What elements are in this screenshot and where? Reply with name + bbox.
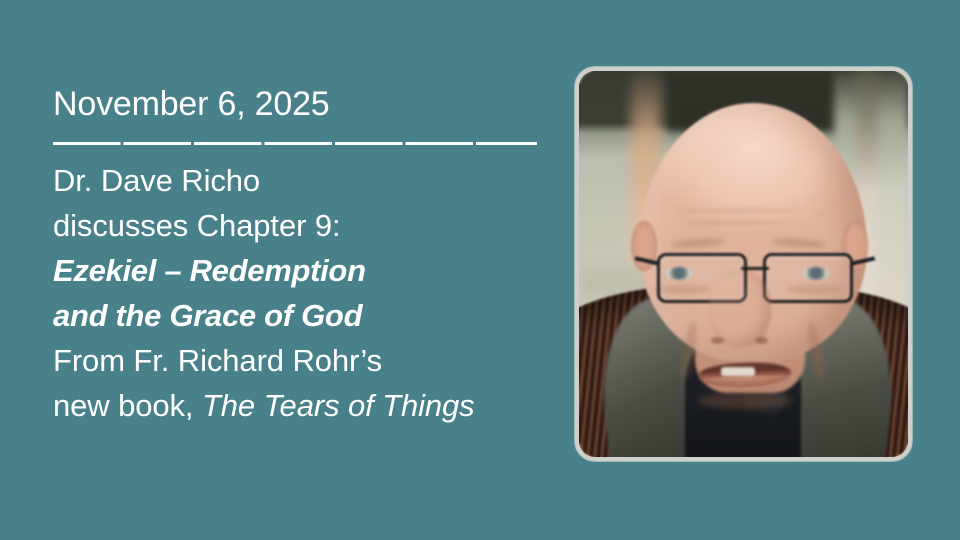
forehead-line-1	[679, 209, 799, 212]
speaker-name: Dr. Dave Richo	[53, 158, 553, 203]
lens-right	[763, 253, 853, 303]
forehead-line-2	[687, 221, 791, 224]
horizontal-divider	[53, 142, 537, 145]
speaker-portrait-photo	[579, 71, 908, 457]
nose	[709, 271, 771, 347]
teeth	[721, 367, 755, 376]
event-date: November 6, 2025	[53, 82, 553, 126]
glasses-temple-left	[635, 256, 659, 265]
portrait-frame	[575, 67, 912, 461]
source-book-line: new book, The Tears of Things	[53, 383, 553, 428]
chapter-title-line-2: and the Grace of God	[53, 293, 553, 338]
announcement-slide: November 6, 2025 Dr. Dave Richo discusse…	[0, 0, 960, 540]
chapter-title-line-1: Ezekiel – Redemption	[53, 248, 553, 293]
glasses-bridge	[741, 267, 769, 270]
nostril-right	[755, 337, 768, 344]
announcement-text-block: November 6, 2025 Dr. Dave Richo discusse…	[53, 82, 553, 428]
nostril-left	[711, 337, 724, 344]
source-book-lead: new book,	[53, 388, 202, 423]
chin-shadow	[697, 393, 793, 409]
chapter-line: discusses Chapter 9:	[53, 203, 553, 248]
source-author-line: From Fr. Richard Rohr’s	[53, 338, 553, 383]
book-title: The Tears of Things	[202, 388, 475, 423]
